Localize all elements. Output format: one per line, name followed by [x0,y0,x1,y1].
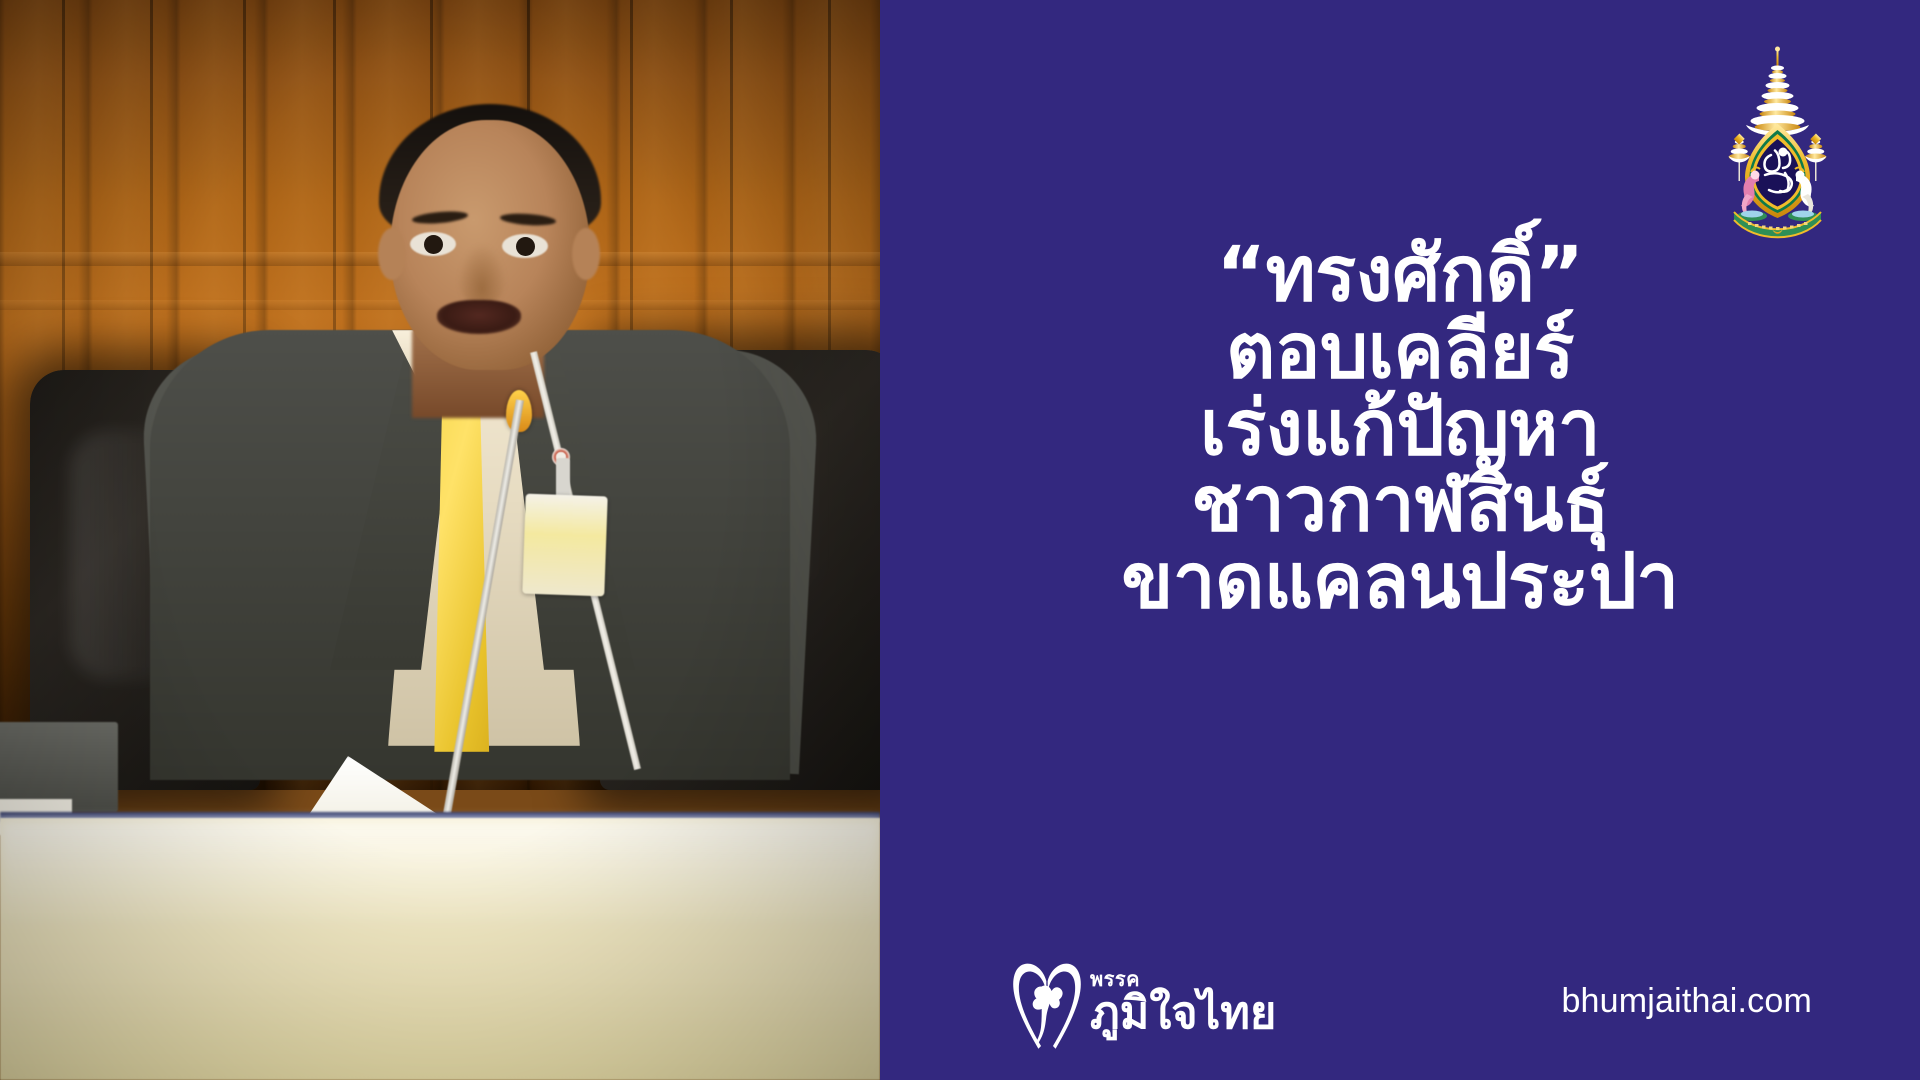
footer-bar: พรรค ภูมิใจไทย bhumjaithai.com [880,920,1920,1080]
poster-canvas: “ทรงศักดิ์” ตอบเคลียร์ เร่งแก้ปัญหา ชาวก… [0,0,1920,1080]
party-name-label: ภูมิใจไทย [1090,990,1276,1035]
mouth [437,300,521,334]
news-photo [0,0,880,1080]
party-logo[interactable]: พรรค ภูมิใจไทย [1010,956,1276,1052]
headline-line-3: เร่งแก้ปัญหา [880,390,1920,467]
party-wordmark: พรรค ภูมิใจไทย [1090,969,1276,1039]
website-url[interactable]: bhumjaithai.com [1561,982,1812,1021]
ear-right [572,228,600,280]
nose [458,245,506,307]
headline-panel: “ทรงศักดิ์” ตอบเคลียร์ เร่งแก้ปัญหา ชาวก… [880,0,1920,1080]
bhumjaithai-heart-map-icon [1010,956,1084,1052]
chatra-spire [1746,47,1809,137]
headline-line-1: “ทรงศักดิ์” [880,236,1920,313]
headline-text: “ทรงศักดิ์” ตอบเคลียร์ เร่งแก้ปัญหา ชาวก… [880,236,1920,620]
headline-line-2: ตอบเคลียร์ [880,313,1920,390]
headline-line-5: ขาดแคลนประปา [880,543,1920,620]
headline-line-4: ชาวกาฬสินธุ์ [880,466,1920,543]
desk-glare [0,820,880,930]
pupil-left [424,235,443,254]
id-badge-card [522,494,607,597]
royal-coat-of-arms-icon [1715,44,1840,239]
ear-left [378,228,406,280]
pupil-right [516,237,535,256]
